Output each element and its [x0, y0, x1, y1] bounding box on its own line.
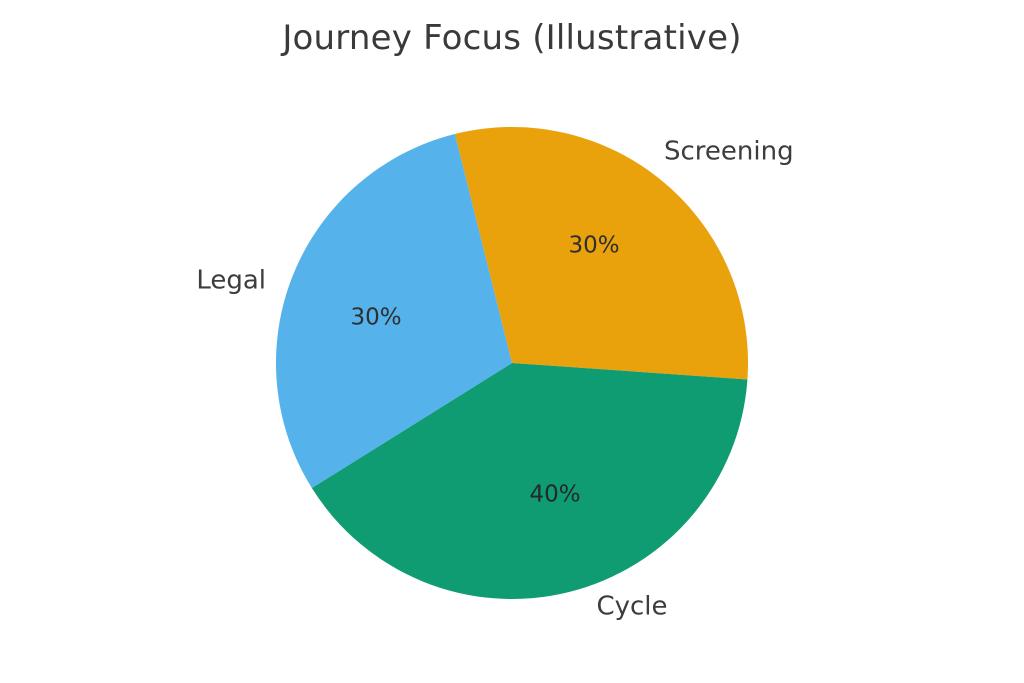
pie-category-label-cycle: Cycle: [596, 592, 667, 622]
pie-category-label-screening: Screening: [664, 137, 794, 167]
pie-percent-label-legal: 30%: [350, 305, 401, 331]
pie-percent-label-screening: 30%: [568, 233, 619, 259]
pie-slices-group: [276, 127, 748, 599]
pie-chart-figure: Journey Focus (Illustrative) 30%40%30% S…: [0, 0, 1024, 683]
pie-category-label-legal: Legal: [196, 266, 266, 296]
pie-chart-canvas: 30%40%30% ScreeningCycleLegal: [0, 0, 1024, 683]
pie-percent-label-cycle: 40%: [529, 482, 580, 508]
